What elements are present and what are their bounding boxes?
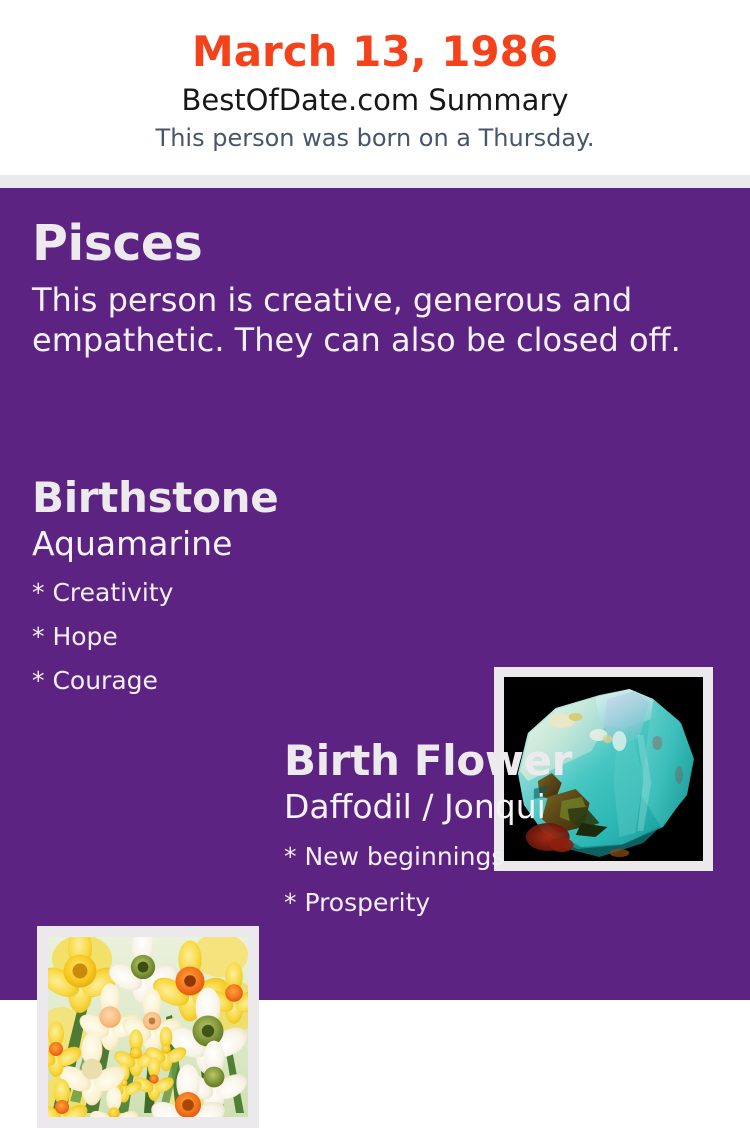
birthstone-section: Birthstone Aquamarine * Creativity * Hop… xyxy=(32,473,472,703)
birthstone-trait-list: * Creativity * Hope * Courage xyxy=(32,571,472,703)
site-title: BestOfDate.com Summary xyxy=(0,80,750,120)
zodiac-sign-title: Pisces xyxy=(32,214,718,274)
header-divider xyxy=(0,175,750,188)
birthstone-heading: Birthstone xyxy=(32,473,472,523)
header-subtitle: This person was born on a Thursday. xyxy=(0,121,750,155)
details-panel: Pisces This person is creative, generous… xyxy=(0,188,750,1000)
birth-flower-heading: Birth Flower xyxy=(284,736,724,786)
list-item: * Prosperity xyxy=(284,880,724,926)
summary-card: March 13, 1986 BestOfDate.com Summary Th… xyxy=(0,0,750,1000)
list-item: * Hope xyxy=(32,615,472,659)
birth-flower-trait-list: * New beginnings * Prosperity xyxy=(284,834,724,926)
zodiac-section: Pisces This person is creative, generous… xyxy=(32,214,718,360)
birthstone-name: Aquamarine xyxy=(32,524,472,564)
birth-flower-name: Daffodil / Jonqui xyxy=(284,787,724,827)
zodiac-description: This person is creative, generous and em… xyxy=(32,280,704,360)
page-title-date: March 13, 1986 xyxy=(0,26,750,78)
list-item: * Courage xyxy=(32,659,472,703)
header: March 13, 1986 BestOfDate.com Summary Th… xyxy=(0,0,750,175)
birth-flower-image xyxy=(48,937,248,1117)
daffodil-field-icon xyxy=(48,937,248,1117)
list-item: * Creativity xyxy=(32,571,472,615)
birth-flower-image-frame xyxy=(37,926,259,1128)
birth-flower-section: Birth Flower Daffodil / Jonqui * New beg… xyxy=(284,736,724,926)
list-item: * New beginnings xyxy=(284,834,724,880)
